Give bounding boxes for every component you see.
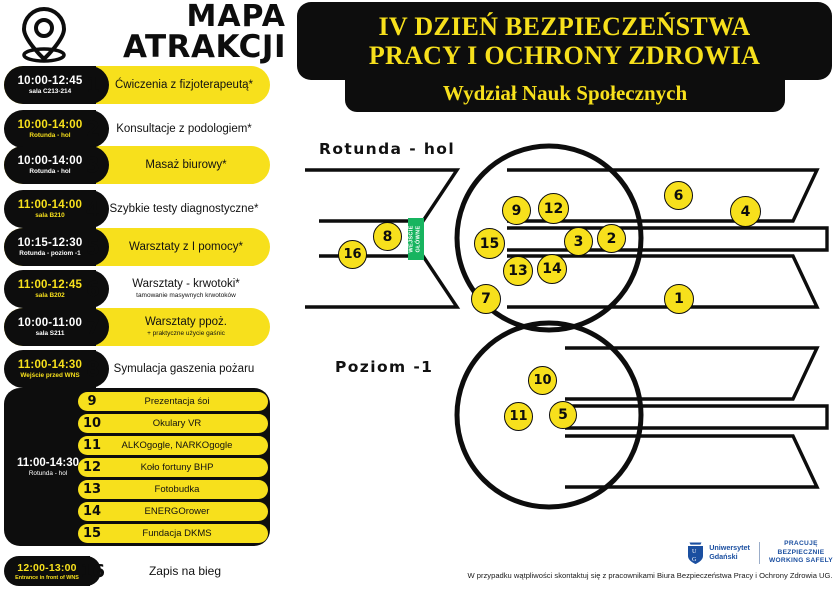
list-item[interactable]: 10 Okulary VR <box>78 414 268 433</box>
svg-text:U: U <box>692 549 697 555</box>
faculty-subtitle: Wydział Nauk Społecznych <box>443 82 687 105</box>
item-sublabel: + praktyczne użycie gaśnic <box>147 330 225 338</box>
panel-time-text: 11:00-14:30 <box>17 457 79 469</box>
map-pin-1[interactable]: 1 <box>664 284 694 314</box>
room-text: Wejście przed WNS <box>20 372 79 379</box>
list-item[interactable]: 10:00-14:00 Rotunda - hol 2 Konsultacje … <box>4 110 270 148</box>
panel-room-text: Rotunda - hol <box>29 470 67 477</box>
item-number: 6 <box>86 270 100 308</box>
time-text: 10:00-11:00 <box>18 317 82 329</box>
item-text: Symulacja gaszenia pożaru <box>96 350 272 388</box>
item-number: 7 <box>86 308 100 346</box>
time-badge: 11:00-12:45 sala B202 <box>4 270 96 308</box>
title-plate: IV DZIEŃ BEZPIECZEŃSTWA PRACY I OCHRONY … <box>297 2 832 80</box>
time-text: 11:00-14:00 <box>18 199 82 211</box>
time-badge: 11:00-14:30 Wejście przed WNS <box>4 350 96 388</box>
item-label: Konsultacje z podologiem* <box>116 123 252 136</box>
time-badge: 10:00-12:45 sala C213-214 <box>4 66 96 104</box>
list-item[interactable]: 10:00-11:00 sala S211 7 Warsztaty ppoż. … <box>4 308 270 346</box>
list-item[interactable]: 12 Koło fortuny BHP <box>78 458 268 477</box>
item-text: Masaż biurowy* <box>102 146 270 184</box>
ug-logo: U G Uniwersytet Gdański <box>686 541 750 565</box>
time-text: 10:00-14:00 <box>18 119 83 131</box>
time-text: 12:00-13:00 <box>17 562 76 574</box>
item-number: 2 <box>86 110 100 148</box>
logo-divider <box>759 542 760 564</box>
item-label: Okulary VR <box>106 418 268 429</box>
time-badge: 10:00-11:00 sala S211 <box>4 308 96 346</box>
list-item[interactable]: 10:00-14:00 Rotunda - hol 3 Masaż biurow… <box>4 146 270 184</box>
time-text: 11:00-12:45 <box>18 279 82 291</box>
item-text: Warsztaty - krwotoki* tamowanie masywnyc… <box>102 270 270 308</box>
brand-line-2: ATRAKCJI <box>64 32 286 62</box>
item-text: Warsztaty z I pomocy* <box>102 228 270 266</box>
list-item[interactable]: 11:00-12:45 sala B202 6 Warsztaty - krwo… <box>4 270 270 308</box>
room-text: sala B210 <box>35 212 65 219</box>
grouped-attractions-panel: 11:00-14:30 Rotunda - hol 9 Prezentacja … <box>4 388 270 546</box>
brand-header: MAPA ATRAKCJI <box>6 4 284 66</box>
time-badge: 10:15-12:30 Rotunda - poziom -1 <box>4 228 96 266</box>
item-label: Koło fortuny BHP <box>106 462 268 473</box>
item-label: ENERGOrower <box>106 506 268 517</box>
title-line-1: IV DZIEŃ BEZPIECZEŃSTWA <box>379 12 751 41</box>
item-text: Zapis na bieg <box>100 556 270 586</box>
room-text: Entrance in front of WNS <box>15 575 79 581</box>
item-number: 13 <box>78 482 106 497</box>
working-safely-logo: PRACUJĘ BEZPIECZNIE WORKING SAFELY <box>769 540 833 566</box>
time-badge: 10:00-14:00 Rotunda - hol <box>4 146 96 184</box>
footer-disclaimer: W przypadku wątpliwości skontaktuj się z… <box>465 571 835 580</box>
time-text: 11:00-14:30 <box>18 359 82 371</box>
item-number: 14 <box>78 504 106 519</box>
entrance-line-1: WEJŚCIE <box>409 225 415 252</box>
main-entrance-badge: WEJŚCIE GŁÓWNE <box>408 218 424 260</box>
map-pin-8[interactable]: 8 <box>373 222 402 251</box>
room-text: Rotunda - hol <box>29 168 70 175</box>
footer-logos: U G Uniwersytet Gdański PRACUJĘ BEZPIECZ… <box>686 540 833 566</box>
item-label: Fotobudka <box>106 484 268 495</box>
item-number: 4 <box>86 190 100 228</box>
ws-line-1: PRACUJĘ <box>769 540 833 549</box>
item-label: Fundacja DKMS <box>106 528 268 539</box>
room-text: sala S211 <box>36 330 65 337</box>
map-label-poziom: Poziom -1 <box>335 358 433 376</box>
title-line-2: PRACY I OCHRONY ZDROWIA <box>369 41 760 70</box>
time-text: 10:15-12:30 <box>18 237 83 249</box>
location-pin-icon <box>18 6 70 69</box>
room-text: sala C213-214 <box>29 88 71 95</box>
footer: U G Uniwersytet Gdański PRACUJĘ BEZPIECZ… <box>465 538 835 590</box>
item-label: Zapis na bieg <box>149 565 221 578</box>
item-number: 10 <box>78 416 106 431</box>
list-item[interactable]: 11:00-14:00 sala B210 4 Szybkie testy di… <box>4 190 270 228</box>
map-pin-10[interactable]: 10 <box>528 366 557 395</box>
list-item[interactable]: 10:00-12:45 sala C213-214 1 Ćwiczenia z … <box>4 66 270 104</box>
poster-root: MAPA ATRAKCJI 10:00-12:45 sala C213-214 … <box>0 0 835 590</box>
map-pin-5[interactable]: 5 <box>549 401 577 429</box>
ug-line-2: Gdański <box>709 553 750 561</box>
room-text: sala B202 <box>35 292 65 299</box>
list-item[interactable]: 12:00-13:00 Entrance in front of WNS 16 … <box>4 556 270 586</box>
list-item[interactable]: 9 Prezentacja śoi <box>78 392 268 411</box>
item-number: 3 <box>86 146 100 184</box>
item-number: 1 <box>86 66 100 104</box>
item-number: 9 <box>78 394 106 409</box>
item-number: 16 <box>80 556 105 586</box>
ug-crest-icon: U G <box>686 541 705 565</box>
event-title-banner: Wydział Nauk Społecznych IV DZIEŃ BEZPIE… <box>297 2 832 114</box>
item-text: Szybkie testy diagnostyczne* <box>96 190 272 228</box>
map-pin-15[interactable]: 15 <box>474 228 505 259</box>
time-badge: 11:00-14:00 sala B210 <box>4 190 96 228</box>
time-badge: 10:00-14:00 Rotunda - hol <box>4 110 96 148</box>
item-label: Warsztaty - krwotoki* <box>132 278 240 291</box>
attractions-sidebar: MAPA ATRAKCJI 10:00-12:45 sala C213-214 … <box>0 0 290 590</box>
map-pin-11[interactable]: 11 <box>504 402 533 431</box>
map-pin-12[interactable]: 12 <box>538 193 569 224</box>
item-text: Konsultacje z podologiem* <box>96 110 272 148</box>
item-text: Warsztaty ppoż. + praktyczne użycie gaśn… <box>102 308 270 346</box>
map-pin-16[interactable]: 16 <box>338 240 367 269</box>
time-text: 10:00-14:00 <box>18 155 83 167</box>
item-label: Prezentacja śoi <box>106 396 268 407</box>
floorplan-svg <box>297 118 835 538</box>
item-label: Warsztaty z I pomocy* <box>129 241 243 254</box>
map-pin-2[interactable]: 2 <box>597 224 626 253</box>
map-pin-13[interactable]: 13 <box>503 256 533 286</box>
item-label: Symulacja gaszenia pożaru <box>114 363 255 376</box>
list-item[interactable]: 14 ENERGOrower <box>78 502 268 521</box>
brand-title: MAPA ATRAKCJI <box>64 2 286 62</box>
map-pin-7[interactable]: 7 <box>471 284 501 314</box>
map-pin-6[interactable]: 6 <box>664 181 693 210</box>
item-label: Masaż biurowy* <box>145 159 226 172</box>
map-pin-14[interactable]: 14 <box>537 254 567 284</box>
item-number: 5 <box>86 228 100 266</box>
svg-text:G: G <box>692 557 697 563</box>
item-number: 8 <box>86 350 100 388</box>
map-pin-3[interactable]: 3 <box>564 227 593 256</box>
item-label: Ćwiczenia z fizjoterapeutą* <box>115 79 253 92</box>
item-number: 15 <box>78 526 106 541</box>
room-text: Rotunda - hol <box>29 132 70 139</box>
entrance-line-2: GŁÓWNE <box>416 226 422 253</box>
list-item[interactable]: 15 Fundacja DKMS <box>78 524 268 543</box>
item-sublabel: tamowanie masywnych krwotoków <box>136 292 236 300</box>
item-label: Warsztaty ppoż. <box>145 316 227 329</box>
item-label: Szybkie testy diagnostyczne* <box>110 203 259 216</box>
panel-time-block: 11:00-14:30 Rotunda - hol <box>8 388 88 546</box>
map-pin-9[interactable]: 9 <box>502 196 531 225</box>
item-number: 11 <box>78 438 106 453</box>
ug-logo-text: Uniwersytet Gdański <box>709 544 750 561</box>
map-pin-4[interactable]: 4 <box>730 196 761 227</box>
item-text: Ćwiczenia z fizjoterapeutą* <box>96 66 272 104</box>
list-item[interactable]: 11:00-14:30 Wejście przed WNS 8 Symulacj… <box>4 350 270 388</box>
ws-line-3: WORKING SAFELY <box>769 557 833 566</box>
list-item[interactable]: 11 ALKOgogle, NARKOgogle <box>78 436 268 455</box>
room-text: Rotunda - poziom -1 <box>19 250 80 257</box>
list-item[interactable]: 13 Fotobudka <box>78 480 268 499</box>
item-number: 12 <box>78 460 106 475</box>
floor-maps: Rotunda - hol Poziom -1 WEJŚCIE GŁÓWNE 1… <box>297 118 835 538</box>
map-label-rotunda: Rotunda - hol <box>319 140 455 158</box>
list-item[interactable]: 10:15-12:30 Rotunda - poziom -1 5 Warszt… <box>4 228 270 266</box>
time-text: 10:00-12:45 <box>18 75 83 87</box>
item-label: ALKOgogle, NARKOgogle <box>106 440 268 451</box>
ws-line-2: BEZPIECZNIE <box>769 549 833 558</box>
time-badge: 12:00-13:00 Entrance in front of WNS <box>4 556 90 586</box>
